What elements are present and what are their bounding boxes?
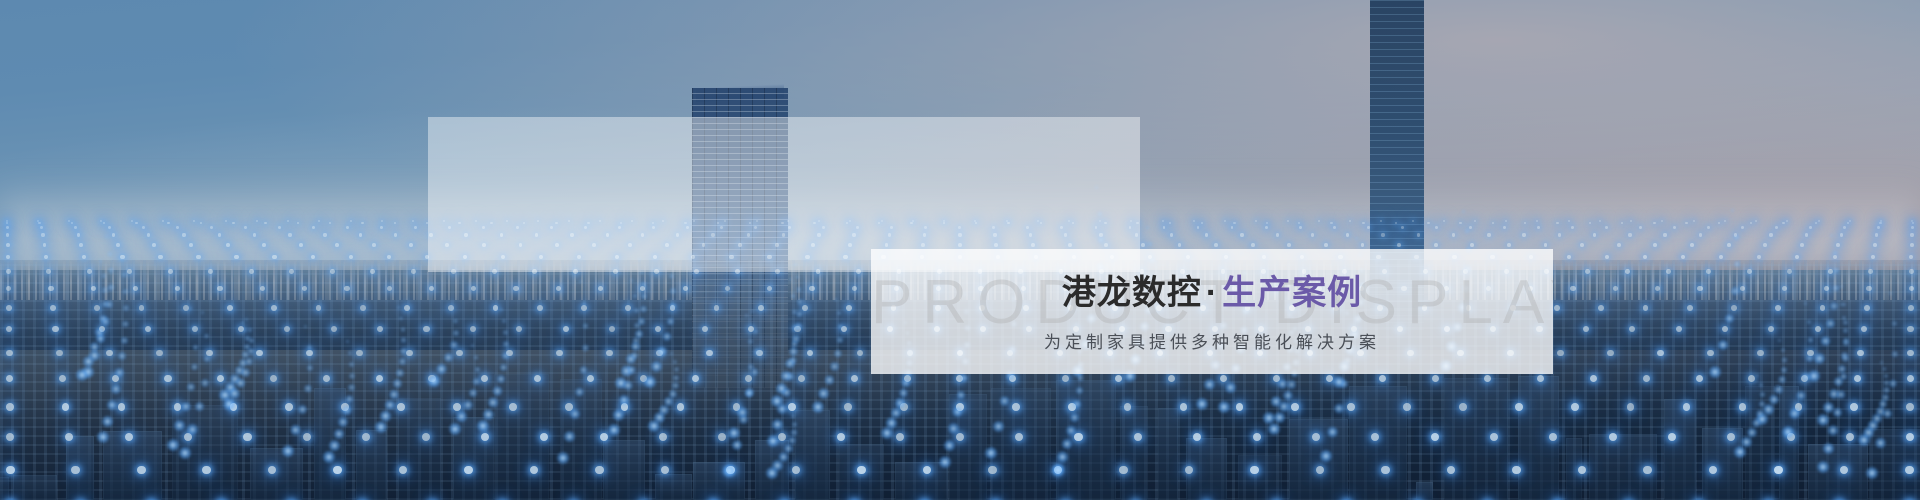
network-dot (356, 350, 363, 357)
light-arc-node (303, 384, 313, 394)
light-arc-node (345, 394, 355, 404)
network-dot (1470, 243, 1474, 247)
light-arc-node (1777, 375, 1787, 385)
network-dot (625, 305, 631, 311)
network-dot (493, 305, 499, 311)
network-dot (1820, 305, 1826, 311)
network-dot (1909, 269, 1914, 274)
light-arc-node (1051, 463, 1065, 477)
network-dot (289, 269, 294, 274)
light-arc-node (666, 317, 676, 327)
network-dot (262, 243, 266, 247)
light-arc-node (581, 344, 589, 352)
network-dot (164, 375, 171, 382)
network-dot (323, 233, 326, 236)
dot-row (0, 466, 1920, 475)
light-arc-node (89, 341, 101, 353)
network-dot (745, 375, 752, 382)
light-arc-node (101, 415, 114, 428)
light-arc-node (952, 406, 964, 418)
network-dot (1401, 226, 1404, 229)
network-dot (232, 222, 234, 224)
network-dot (1864, 305, 1870, 311)
light-arc-node (811, 400, 825, 414)
network-dot (1362, 222, 1364, 224)
network-dot (387, 255, 391, 259)
network-dot (6, 226, 9, 229)
light-arc-node (791, 334, 801, 344)
network-dot (127, 269, 132, 274)
light-arc-node (1874, 437, 1887, 450)
light-arc-node (379, 409, 392, 422)
light-arc-node (783, 443, 794, 454)
light-arc-node (492, 385, 503, 396)
network-dot (1676, 326, 1682, 332)
network-dot (1205, 233, 1208, 236)
network-dot (1163, 226, 1166, 229)
network-dot (1431, 433, 1439, 441)
network-dot (50, 305, 56, 311)
light-arc-node (1882, 408, 1893, 419)
network-dot (1657, 350, 1664, 357)
network-dot (534, 375, 541, 382)
light-arc-node (1805, 354, 1814, 363)
network-dot (1718, 222, 1720, 224)
network-dot (429, 286, 434, 291)
light-arc-node (766, 434, 780, 448)
light-arc-node (1733, 234, 1740, 241)
light-arc-node (337, 416, 348, 427)
network-dot (1524, 222, 1526, 224)
light-arc-node (322, 450, 336, 464)
network-dot (563, 326, 569, 332)
network-dot (1653, 222, 1655, 224)
light-arc-node (1730, 286, 1740, 296)
network-dot (1124, 403, 1132, 411)
light-arc-node (347, 383, 356, 392)
network-dot (6, 269, 11, 274)
network-dot (227, 305, 233, 311)
light-arc-node (992, 420, 1005, 433)
light-arc-node (836, 336, 844, 344)
network-dot (43, 243, 47, 247)
light-arc-node (348, 361, 355, 368)
network-dot (234, 255, 238, 259)
light-arc-node (1056, 450, 1069, 463)
network-dot (595, 466, 604, 475)
light-arc-node (200, 378, 210, 388)
light-arc-node (388, 389, 400, 401)
network-dot (1537, 375, 1544, 382)
network-dot (331, 326, 337, 332)
network-dot (1643, 305, 1649, 311)
light-arc-node (203, 355, 211, 363)
light-arc-node (607, 423, 621, 437)
network-dot (158, 255, 162, 259)
light-arc-node (578, 279, 583, 284)
light-arc-node (795, 274, 801, 280)
light-arc-node (333, 428, 345, 440)
light-arc-node (448, 422, 462, 436)
light-arc-node (633, 322, 641, 330)
light-arc-node (622, 380, 633, 391)
light-arc-node (1277, 378, 1288, 389)
network-dot (284, 326, 290, 332)
network-dot (1787, 269, 1792, 274)
network-dot (1696, 375, 1703, 382)
network-dot (1590, 375, 1597, 382)
network-dot (1719, 255, 1723, 259)
light-arc-node (94, 327, 105, 338)
network-dot (1170, 233, 1173, 236)
light-arc-node (1065, 425, 1077, 437)
network-dot (1868, 269, 1873, 274)
light-arc-node (306, 364, 314, 372)
network-dot (6, 255, 10, 259)
network-dot (1782, 222, 1784, 224)
network-dot (394, 222, 396, 224)
network-dot (1324, 243, 1328, 247)
network-dot (271, 305, 277, 311)
light-arc-node (612, 408, 625, 421)
network-dot (1809, 226, 1812, 229)
light-arc-node (443, 352, 454, 363)
light-arc-node (1286, 379, 1296, 389)
network-dot (1795, 255, 1799, 259)
network-dot (330, 269, 335, 274)
light-arc-node (1882, 366, 1888, 372)
light-arc-node (101, 273, 107, 279)
network-dot (329, 222, 331, 224)
light-arc-node (121, 272, 127, 278)
network-dot (1871, 255, 1875, 259)
light-arc-node (122, 288, 129, 295)
network-dot (1557, 350, 1564, 357)
network-dot (1866, 286, 1871, 291)
network-dot (1134, 433, 1142, 441)
network-dot (1905, 466, 1914, 475)
network-dot (6, 305, 12, 311)
light-arc-node (1746, 427, 1758, 439)
network-dot (1699, 233, 1702, 236)
network-dot (335, 243, 339, 247)
network-dot (6, 326, 12, 332)
light-arc-node (248, 337, 255, 344)
network-dot (380, 226, 383, 229)
network-dot (176, 226, 179, 229)
light-arc-node (1061, 438, 1073, 450)
network-dot (606, 350, 613, 357)
network-dot (1879, 222, 1881, 224)
light-arc-node (188, 306, 193, 311)
light-arc-node (121, 320, 129, 328)
network-dot (1605, 226, 1608, 229)
light-arc-node (1795, 390, 1806, 401)
network-dot (74, 226, 77, 229)
network-dot (1840, 233, 1843, 236)
light-arc-node (1842, 327, 1849, 334)
network-dot (79, 243, 83, 247)
light-arc-node (1832, 407, 1843, 418)
light-arc-node (395, 368, 405, 378)
network-dot (6, 433, 14, 441)
network-dot (1490, 433, 1498, 441)
network-dot (1907, 375, 1914, 382)
network-dot (323, 375, 330, 382)
network-dot (1266, 222, 1268, 224)
network-dot (1311, 233, 1314, 236)
light-arc-node (1842, 319, 1849, 326)
network-dot (71, 222, 73, 224)
light-arc-node (399, 347, 407, 355)
page-title-accent: 生产案例 (1222, 274, 1362, 312)
network-dot (1609, 433, 1617, 441)
light-arc-node (194, 401, 205, 412)
network-dot (1169, 222, 1171, 224)
network-dot (1621, 222, 1623, 224)
network-dot (1347, 403, 1355, 411)
network-dot (1731, 305, 1737, 311)
network-dot (1768, 326, 1774, 332)
page-title-separator: · (1202, 274, 1222, 312)
network-dot (1666, 269, 1671, 274)
network-dot (1115, 375, 1122, 382)
network-dot (1910, 233, 1913, 236)
light-arc-node (780, 370, 792, 382)
light-arc-node (347, 350, 353, 356)
network-dot (1824, 286, 1829, 291)
network-dot (714, 305, 720, 311)
network-dot (306, 350, 313, 357)
network-dot (1629, 326, 1635, 332)
light-arc-node (1777, 338, 1782, 343)
network-dot (1757, 255, 1761, 259)
network-dot (210, 226, 213, 229)
network-dot (182, 233, 185, 236)
network-dot (1558, 233, 1561, 236)
light-arc-node (482, 408, 495, 421)
network-dot (6, 222, 8, 224)
network-dot (1452, 233, 1455, 236)
network-dot (1836, 243, 1840, 247)
network-dot (692, 375, 699, 382)
light-arc-node (303, 324, 308, 329)
light-arc-node (328, 439, 341, 452)
light-arc-node (203, 333, 210, 340)
light-arc-node (753, 328, 760, 335)
light-arc-node (1464, 228, 1470, 234)
network-dot (1906, 403, 1914, 411)
network-dot (422, 433, 430, 441)
light-arc-node (1836, 389, 1846, 399)
network-dot (1828, 269, 1833, 274)
network-dot (456, 350, 463, 357)
network-dot (1487, 233, 1490, 236)
network-dot (844, 403, 852, 411)
network-dot (556, 350, 563, 357)
light-arc-node (1833, 267, 1840, 274)
network-dot (857, 350, 864, 357)
network-dot (1909, 255, 1913, 259)
network-dot (200, 222, 202, 224)
network-dot (147, 233, 150, 236)
network-dot (243, 433, 251, 441)
network-dot (1492, 222, 1494, 224)
network-dot (175, 286, 180, 291)
network-dot (1668, 433, 1676, 441)
light-arc-node (449, 340, 459, 350)
network-dot (359, 233, 362, 236)
light-arc-node (1881, 393, 1890, 402)
light-arc-node (1813, 352, 1826, 365)
light-arc-node (632, 293, 638, 299)
network-dot (1907, 350, 1914, 357)
light-arc-node (738, 414, 749, 425)
hero-card: PRODUCT DISPLAY 港龙数控·生产案例 为定制家具提供多种智能化解决… (871, 249, 1553, 374)
network-dot (923, 466, 932, 475)
light-arc-node (501, 318, 507, 324)
light-arc-node (770, 394, 784, 408)
light-arc-node (731, 439, 744, 452)
light-arc-node (744, 389, 754, 399)
network-dot (156, 350, 163, 357)
light-arc-node (496, 374, 506, 384)
light-arc-node (398, 316, 404, 322)
light-arc-node (487, 396, 499, 408)
light-arc-node (1841, 354, 1850, 363)
light-arc-node (753, 348, 761, 356)
light-arc-node (959, 373, 969, 383)
light-arc-node (502, 340, 510, 348)
light-arc-node (462, 399, 473, 410)
light-arc-node (1751, 418, 1762, 429)
light-arc-node (392, 378, 403, 389)
page-subtitle: 为定制家具提供多种智能化解决方案 (1044, 328, 1380, 353)
network-dot (1333, 226, 1336, 229)
light-arc-node (1759, 391, 1766, 398)
network-dot (1815, 222, 1817, 224)
network-dot (718, 433, 726, 441)
network-dot (311, 255, 315, 259)
network-dot (249, 269, 254, 274)
hero-banner: PRODUCT DISPLAY 港龙数控·生产案例 为定制家具提供多种智能化解决… (0, 0, 1920, 500)
network-dot (52, 326, 58, 332)
network-dot (189, 243, 193, 247)
light-arc-node (795, 310, 803, 318)
network-dot (1180, 403, 1188, 411)
network-dot (1250, 466, 1259, 475)
network-dot (344, 286, 349, 291)
light-arc-node (943, 439, 956, 452)
network-dot (1722, 326, 1728, 332)
network-dot (333, 466, 342, 475)
network-dot (1690, 243, 1694, 247)
network-dot (1522, 233, 1525, 236)
network-dot (1912, 222, 1914, 224)
light-arc-node (342, 405, 352, 415)
network-dot (1683, 403, 1691, 411)
network-dot (1119, 466, 1128, 475)
network-dot (1197, 226, 1200, 229)
light-arc-node (1076, 374, 1084, 382)
network-dot (196, 255, 200, 259)
network-dot (256, 350, 263, 357)
network-dot (1613, 286, 1618, 291)
network-dot (6, 403, 14, 411)
light-arc-node (833, 297, 838, 302)
light-arc-node (281, 444, 295, 458)
light-arc-node (117, 351, 127, 361)
light-arc-node (1145, 225, 1150, 230)
light-arc-node (794, 322, 803, 331)
light-arc-node (1807, 336, 1815, 344)
light-arc-node (228, 387, 241, 400)
network-dot (278, 226, 281, 229)
network-dot (1687, 305, 1693, 311)
network-dot (1593, 233, 1596, 236)
network-dot (346, 226, 349, 229)
light-arc-node (640, 293, 648, 301)
network-dot (1484, 375, 1491, 382)
network-dot (659, 433, 667, 441)
light-arc-node (101, 286, 108, 293)
network-dot (1193, 433, 1201, 441)
light-arc-node (747, 338, 754, 345)
light-arc-node (1724, 313, 1735, 324)
network-dot (1361, 243, 1365, 247)
network-dot (1655, 286, 1660, 291)
network-dot (1639, 226, 1642, 229)
network-dot (1265, 226, 1268, 229)
network-dot (6, 286, 11, 291)
network-dot (1251, 243, 1255, 247)
network-dot (1367, 226, 1370, 229)
network-dot (112, 233, 115, 236)
network-dot (168, 269, 173, 274)
network-dot (1567, 255, 1571, 259)
light-arc-node (435, 363, 448, 376)
network-dot (253, 233, 256, 236)
network-dot (1570, 286, 1575, 291)
network-dot (404, 305, 410, 311)
network-dot (387, 286, 392, 291)
network-dot (6, 375, 13, 382)
network-dot (62, 403, 70, 411)
network-dot (1673, 226, 1676, 229)
network-dot (1231, 226, 1234, 229)
light-arc-node (671, 381, 680, 390)
light-arc-node (791, 421, 798, 428)
light-arc-node (1820, 335, 1832, 347)
network-dot (208, 269, 213, 274)
network-dot (1908, 305, 1914, 311)
network-dot (397, 403, 405, 411)
network-dot (1537, 226, 1540, 229)
network-dot (1911, 226, 1914, 229)
light-arc-node (833, 349, 843, 359)
light-arc-node (1319, 449, 1333, 463)
light-arc-node (1891, 350, 1899, 358)
light-arc-node (836, 310, 842, 316)
network-dot (362, 433, 370, 441)
network-dot (270, 375, 277, 382)
network-dot (1544, 243, 1548, 247)
light-arc-node (796, 298, 803, 305)
light-arc-node (643, 375, 657, 389)
network-dot (1201, 222, 1203, 224)
network-dot (516, 326, 522, 332)
light-arc-node (114, 367, 125, 378)
